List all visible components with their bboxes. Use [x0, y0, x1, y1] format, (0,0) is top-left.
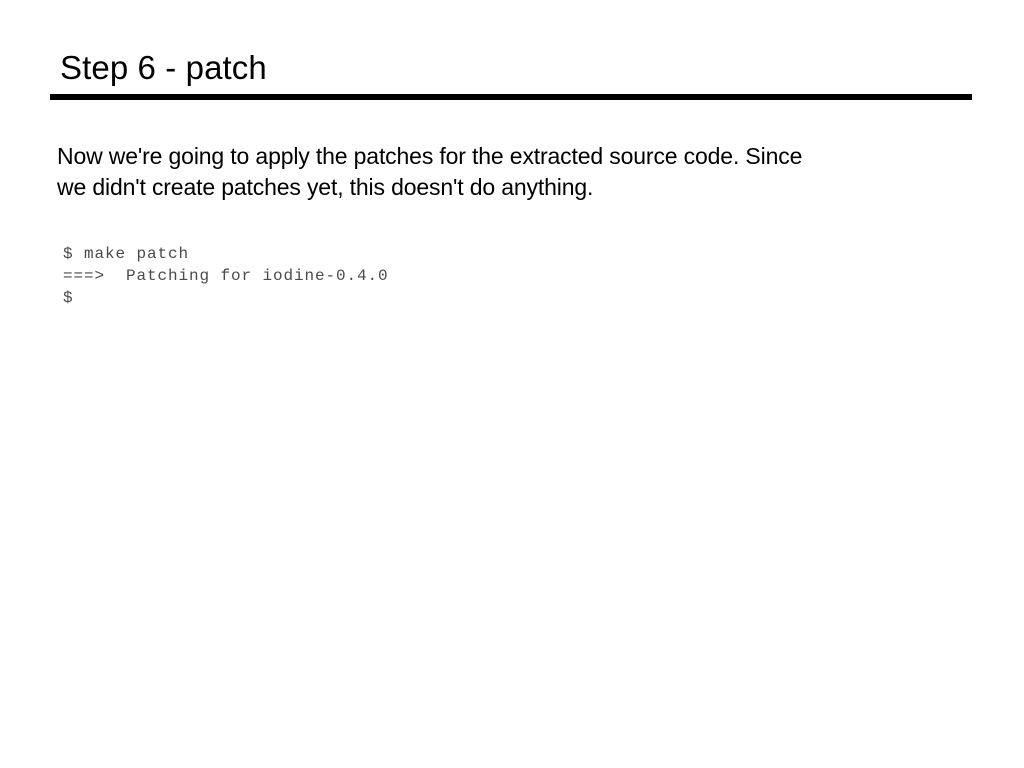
body-line: we didn't create patches yet, this doesn…	[57, 172, 947, 203]
body-line: Now we're going to apply the patches for…	[57, 141, 947, 172]
terminal-line-output: ===> Patching for iodine-0.4.0	[63, 265, 943, 287]
slide: Step 6 - patch Now we're going to apply …	[0, 0, 1024, 768]
terminal-line-prompt: $	[63, 287, 943, 309]
terminal-line-command: $ make patch	[63, 243, 943, 265]
terminal-transcript: $ make patch ===> Patching for iodine-0.…	[63, 243, 943, 309]
title-divider	[50, 94, 972, 100]
body-text: Now we're going to apply the patches for…	[57, 141, 947, 203]
page-title: Step 6 - patch	[50, 48, 972, 88]
title-block: Step 6 - patch	[50, 48, 972, 100]
